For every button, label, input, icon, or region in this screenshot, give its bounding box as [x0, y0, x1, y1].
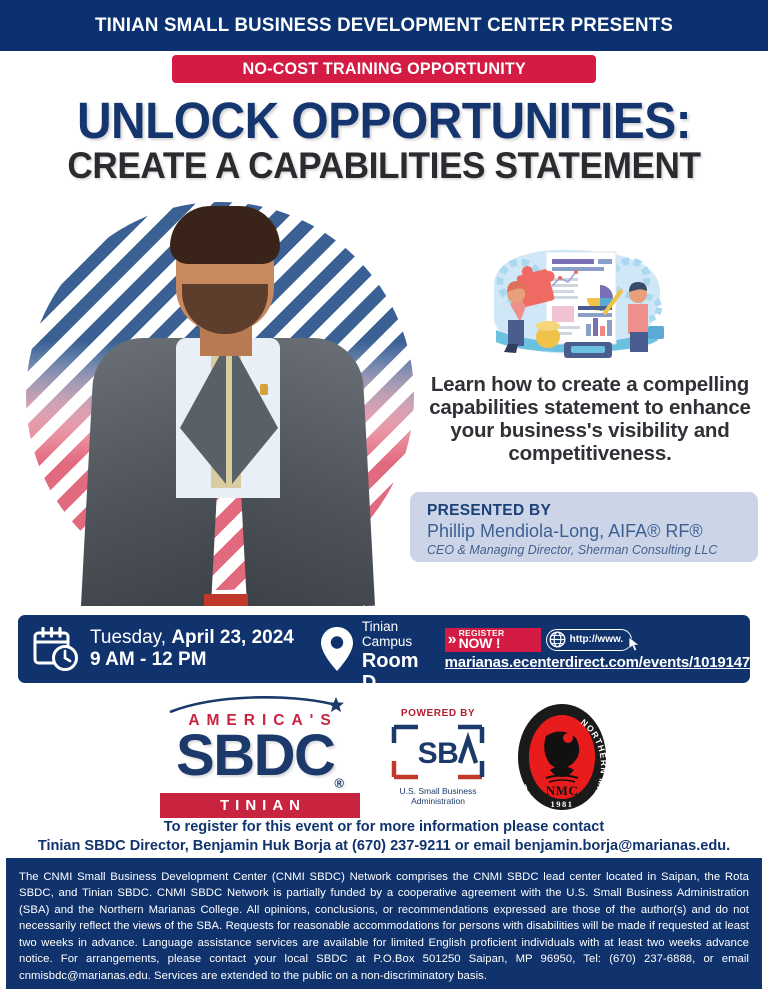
no-cost-ribbon: NO-COST TRAINING OPPORTUNITY: [172, 55, 596, 83]
sba-logo: POWERED BY SB U.S. Small Business Admini…: [382, 708, 494, 806]
description-text: Learn how to create a compelling capabil…: [418, 373, 762, 466]
nmc-seal-logo: NORTHERN MARIANAS COLLEGE NMC 1981: [516, 702, 608, 812]
contact-line-2: Tinian SBDC Director, Benjamin Huk Borja…: [12, 837, 757, 856]
location-pin-icon: [320, 626, 354, 672]
registration-block: » REGISTER NOW ! http://www.: [445, 628, 750, 671]
sba-mark-icon: SB: [388, 721, 488, 783]
presenter-card: PRESENTED BY Phillip Mendiola-Long, AIFA…: [410, 492, 758, 562]
event-datetime: Tuesday, April 23, 2024 9 AM - 12 PM: [90, 628, 294, 671]
sba-caption-line2: Administration: [382, 796, 494, 806]
svg-text:SB: SB: [418, 737, 459, 770]
flyer-poster: TINIAN SMALL BUSINESS DEVELOPMENT CENTER…: [0, 0, 768, 995]
sba-caption-line1: U.S. Small Business: [382, 786, 494, 796]
event-time: 9 AM - 12 PM: [90, 650, 294, 671]
calendar-clock-icon: [32, 626, 80, 672]
sbdc-wordmark: SBDC®: [160, 730, 360, 789]
sbdc-letters: SBDC: [176, 723, 334, 788]
globe-icon: [549, 631, 566, 648]
now-label: NOW !: [459, 636, 505, 650]
svg-text:1981: 1981: [551, 799, 574, 809]
register-now-labels: REGISTER NOW !: [459, 629, 505, 651]
double-chevron-icon: »: [448, 632, 457, 648]
footer-disclaimer-text: The CNMI Small Business Development Cent…: [19, 869, 749, 984]
sbdc-location-bar: TINIAN: [160, 793, 360, 818]
sbdc-registered-mark: ®: [334, 775, 344, 790]
contact-line-1: To register for this event or for more i…: [12, 818, 757, 837]
venue-campus: Tinian Campus: [362, 619, 423, 649]
title-primary: UNLOCK OPPORTUNITIES:: [23, 96, 745, 145]
title-block: UNLOCK OPPORTUNITIES: CREATE A CAPABILIT…: [0, 96, 768, 186]
mouse-cursor-icon: [628, 636, 642, 652]
url-pill: http://www.: [546, 629, 633, 651]
ribbon-label: NO-COST TRAINING OPPORTUNITY: [242, 59, 525, 79]
hair: [170, 206, 280, 264]
title-secondary: CREATE A CAPABILITIES STATEMENT: [19, 147, 749, 186]
lapel-pin: [260, 384, 268, 395]
registration-url[interactable]: marianas.ecenterdirect.com/events/101914…: [445, 654, 750, 671]
beard: [182, 284, 268, 334]
red-accent-strip: [204, 594, 248, 606]
registration-row: » REGISTER NOW ! http://www.: [445, 628, 750, 652]
event-date-line: Tuesday, April 23, 2024: [90, 628, 294, 649]
footer-disclaimer-panel: The CNMI Small Business Development Cent…: [6, 858, 762, 989]
venue-org: NMC: [362, 603, 423, 618]
register-now-button[interactable]: » REGISTER NOW !: [445, 628, 541, 652]
header-presents-text: TINIAN SMALL BUSINESS DEVELOPMENT CENTER…: [95, 14, 673, 37]
americas-sbdc-logo: AMERICA'S SBDC® TINIAN: [160, 696, 360, 818]
presenter-name: Phillip Mendiola-Long, AIFA® RF®: [427, 521, 758, 543]
speaker-photo: [64, 198, 384, 606]
url-protocol-text: http://www.: [570, 634, 624, 645]
event-info-bar: Tuesday, April 23, 2024 9 AM - 12 PM NMC…: [18, 615, 750, 683]
logo-strip: AMERICA'S SBDC® TINIAN POWERED BY SB U.S…: [0, 693, 768, 821]
powered-by-label: POWERED BY: [382, 708, 494, 719]
contact-block: To register for this event or for more i…: [0, 818, 768, 856]
event-day-prefix: Tuesday,: [90, 627, 171, 648]
presented-by-label: PRESENTED BY: [427, 502, 758, 520]
svg-text:NMC: NMC: [546, 783, 579, 798]
venue-room: Room D: [362, 650, 423, 695]
event-venue: NMC Tinian Campus Room D: [362, 603, 423, 694]
sba-caption: U.S. Small Business Administration: [382, 786, 494, 806]
header-bar: TINIAN SMALL BUSINESS DEVELOPMENT CENTER…: [0, 0, 768, 51]
presenter-role: CEO & Managing Director, Sherman Consult…: [427, 543, 758, 558]
event-date: April 23, 2024: [171, 627, 294, 648]
capabilities-illustration: [472, 242, 676, 366]
portrait-zone: [14, 196, 434, 608]
